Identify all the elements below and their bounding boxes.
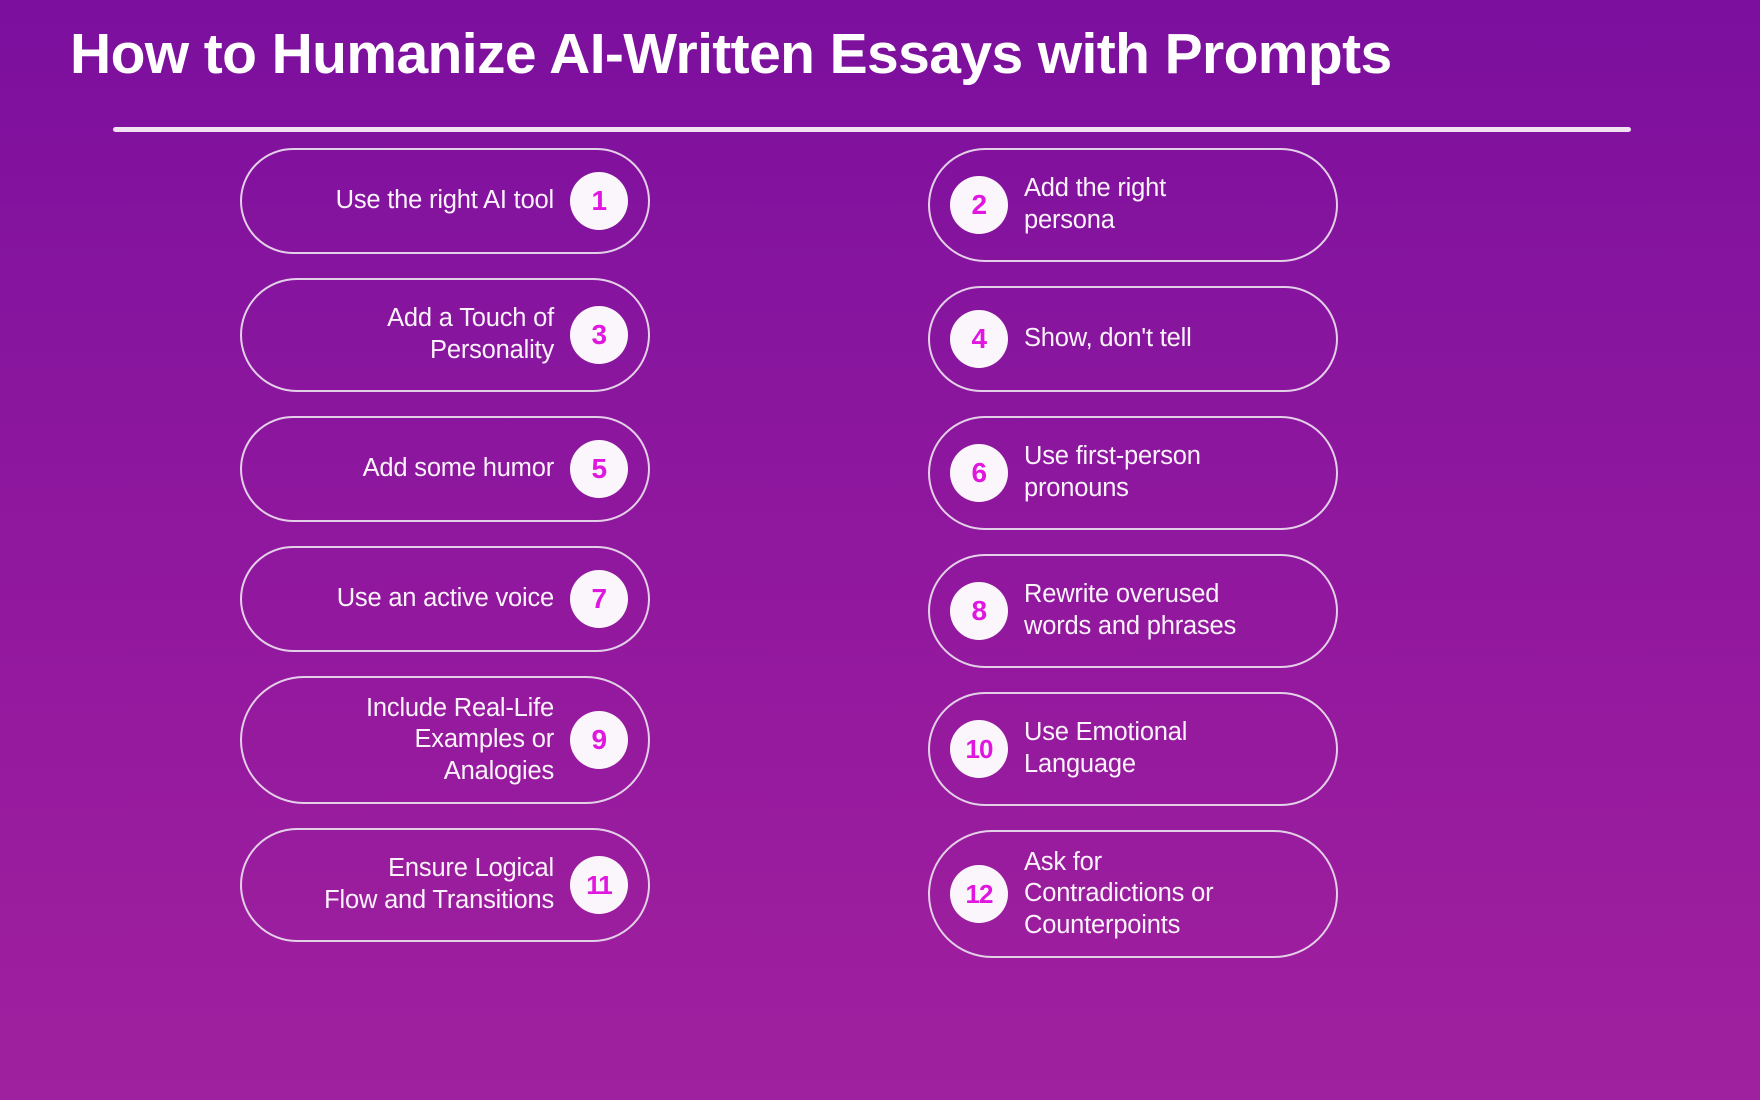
tips-board: Use the right AI tool1Add a Touch of Per… [0,148,1760,1100]
tip-pill-7[interactable]: Use an active voice7 [240,546,650,652]
tip-pill-1[interactable]: Use the right AI tool1 [240,148,650,254]
tip-label: Use the right AI tool [336,185,570,217]
tip-label: Include Real-Life Examples or Analogies [366,693,570,788]
tip-pill-11[interactable]: Ensure Logical Flow and Transitions11 [240,828,650,942]
tip-pill-12[interactable]: 12Ask for Contradictions or Counterpoint… [928,830,1338,958]
tip-pill-5[interactable]: Add some humor5 [240,416,650,522]
tip-label: Show, don't tell [1008,323,1192,355]
tip-pill-2[interactable]: 2Add the right persona [928,148,1338,262]
tip-pill-9[interactable]: Include Real-Life Examples or Analogies9 [240,676,650,804]
tip-number-badge: 2 [950,176,1008,234]
tip-label: Use Emotional Language [1008,717,1187,780]
tip-pill-6[interactable]: 6Use first-person pronouns [928,416,1338,530]
tip-number-badge: 6 [950,444,1008,502]
tip-number-badge: 4 [950,310,1008,368]
tip-pill-4[interactable]: 4Show, don't tell [928,286,1338,392]
tip-number-badge: 5 [570,440,628,498]
tip-number-badge: 9 [570,711,628,769]
tip-number-badge: 7 [570,570,628,628]
title-divider [113,127,1631,132]
tip-label: Add some humor [363,453,570,485]
tip-number-badge: 12 [950,865,1008,923]
tip-pill-8[interactable]: 8Rewrite overused words and phrases [928,554,1338,668]
tip-number-badge: 1 [570,172,628,230]
tip-number-badge: 11 [570,856,628,914]
tip-label: Use first-person pronouns [1008,441,1201,504]
tips-column-left: Use the right AI tool1Add a Touch of Per… [240,148,672,966]
tip-label: Use an active voice [337,583,570,615]
tips-column-right: 2Add the right persona4Show, don't tell6… [928,148,1360,982]
page-title: How to Humanize AI-Written Essays with P… [70,26,1710,83]
infographic-header: How to Humanize AI-Written Essays with P… [0,0,1760,150]
tip-number-badge: 10 [950,720,1008,778]
tip-label: Add the right persona [1008,173,1166,236]
tip-label: Rewrite overused words and phrases [1008,579,1236,642]
tip-number-badge: 3 [570,306,628,364]
tip-label: Ensure Logical Flow and Transitions [324,853,570,916]
tip-label: Ask for Contradictions or Counterpoints [1008,847,1213,942]
tip-label: Add a Touch of Personality [387,303,570,366]
tip-pill-10[interactable]: 10Use Emotional Language [928,692,1338,806]
tip-pill-3[interactable]: Add a Touch of Personality3 [240,278,650,392]
tip-number-badge: 8 [950,582,1008,640]
